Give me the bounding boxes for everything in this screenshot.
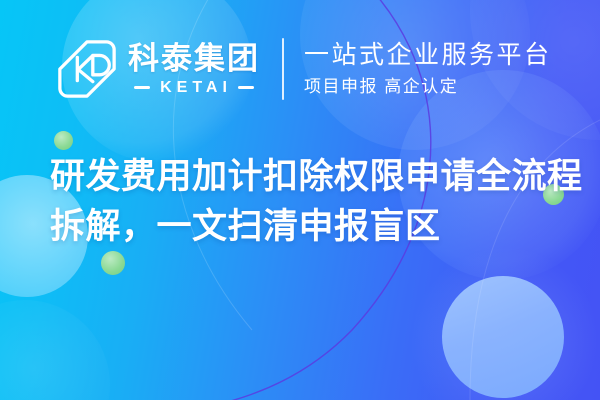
- headline-line-1: 研发费用加计扣除权限申请全流程: [50, 152, 570, 202]
- decor-circle-left-faint: [0, 300, 110, 400]
- decor-circle-bottom-right: [442, 276, 564, 398]
- brand-header: 科泰集团 KETAI 一站式企业服务平台 项目申报 高企认定: [56, 38, 552, 100]
- tagline-primary: 一站式企业服务平台: [304, 41, 552, 70]
- headline-block: 研发费用加计扣除权限申请全流程 拆解，一文扫清申报盲区: [50, 152, 570, 252]
- ketai-logo-icon: [56, 38, 118, 100]
- decor-dot-green-upper-left: [54, 131, 73, 150]
- promo-banner: 科泰集团 KETAI 一站式企业服务平台 项目申报 高企认定 研发费用加计扣除权…: [0, 0, 600, 400]
- decor-circle-bottom-right-halo: [410, 246, 600, 400]
- logo-rule-left-icon: [134, 86, 150, 89]
- tagline-block: 一站式企业服务平台 项目申报 高企认定: [304, 41, 552, 96]
- logo-rule-right-icon: [238, 86, 254, 89]
- logo-company-name-en: KETAI: [156, 80, 232, 96]
- tagline-secondary: 项目申报 高企认定: [304, 77, 552, 97]
- headline-line-2: 拆解，一文扫清申报盲区: [50, 202, 570, 252]
- logo-wordmark: 科泰集团 KETAI: [128, 43, 260, 96]
- decor-dot-green-lower-left: [101, 251, 125, 275]
- logo-company-name-en-row: KETAI: [128, 80, 260, 96]
- header-divider: [282, 38, 284, 100]
- logo-company-name-cn: 科泰集团: [128, 43, 260, 74]
